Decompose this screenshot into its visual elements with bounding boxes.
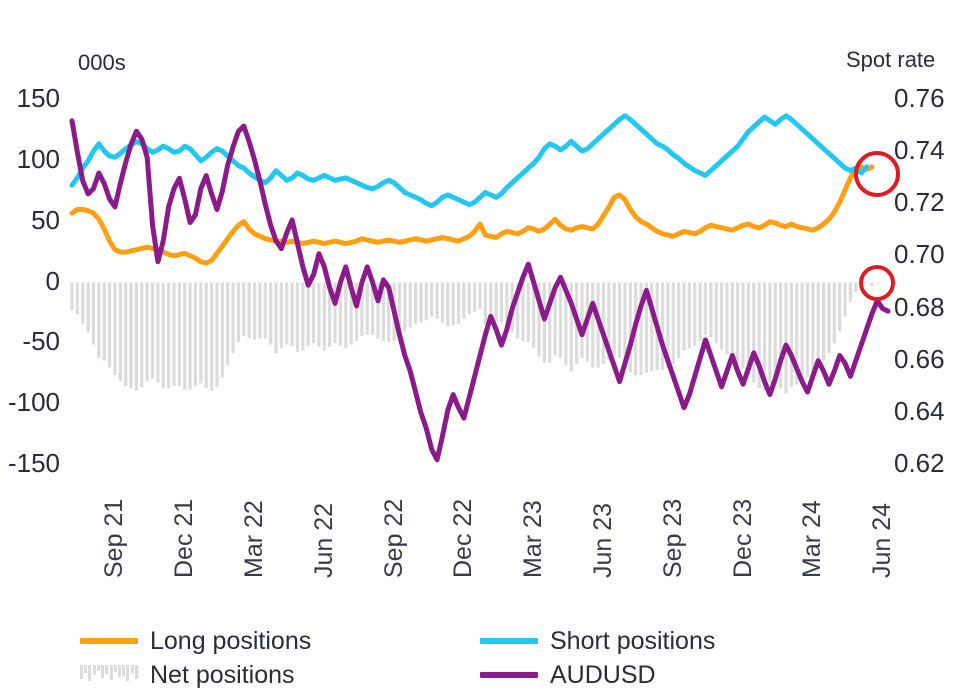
- legend-net-positions[interactable]: Net positions: [80, 661, 480, 690]
- net-position-bar: [419, 283, 422, 323]
- net-position-bar: [237, 283, 240, 343]
- net-position-bar: [92, 283, 95, 345]
- legend-short-positions[interactable]: Short positions: [480, 627, 880, 656]
- net-position-bar: [441, 283, 444, 323]
- net-position-bar: [113, 283, 116, 375]
- net-position-bar: [274, 283, 277, 354]
- net-position-bar: [226, 283, 229, 366]
- net-position-bar: [768, 283, 771, 384]
- net-position-bar: [811, 283, 814, 374]
- plot-area: [0, 0, 954, 697]
- net-position-bar: [344, 283, 347, 349]
- net-position-bar: [291, 283, 294, 346]
- net-position-bar: [613, 283, 616, 356]
- net-position-bar: [629, 283, 632, 373]
- net-position-bar: [97, 283, 100, 358]
- net-position-bar: [409, 283, 412, 328]
- net-position-bar: [854, 283, 857, 293]
- chart-container: 000s Spot rate 150100500-50-100-150 0.76…: [0, 0, 954, 697]
- net-position-bar: [865, 281, 868, 282]
- net-position-bar: [167, 283, 170, 389]
- net-position-bar: [838, 283, 841, 332]
- net-position-bar: [704, 283, 707, 335]
- net-position-bar: [725, 283, 728, 355]
- legend-item-label: Short positions: [550, 627, 715, 656]
- net-position-bar: [849, 283, 852, 302]
- net-position-bar: [731, 283, 734, 362]
- net-position-bar: [129, 283, 132, 389]
- net-position-bar: [591, 283, 594, 368]
- net-position-bar: [199, 283, 202, 384]
- net-position-bar: [178, 283, 181, 386]
- net-position-bar: [446, 283, 449, 327]
- net-position-bar: [307, 283, 310, 346]
- net-position-bar: [403, 283, 406, 332]
- net-position-bar: [688, 283, 691, 349]
- net-position-bar: [580, 283, 583, 358]
- net-position-bar: [468, 283, 471, 315]
- net-position-bar: [70, 283, 73, 311]
- legend-audusd[interactable]: AUDUSD: [480, 661, 880, 690]
- net-position-bar: [833, 283, 836, 344]
- net-position-bar: [280, 283, 283, 349]
- net-position-bar: [801, 283, 804, 382]
- net-position-bar: [221, 283, 224, 378]
- net-position-bar: [146, 283, 149, 382]
- net-position-bar: [650, 283, 653, 372]
- net-position-bar: [500, 283, 503, 323]
- net-position-bar: [323, 283, 326, 351]
- net-position-bar: [242, 283, 245, 337]
- short-positions-line: [72, 116, 867, 206]
- net-position-bar: [715, 283, 718, 344]
- net-position-bar: [258, 283, 261, 339]
- net-position-bar: [693, 283, 696, 346]
- net-position-bar: [81, 283, 84, 324]
- net-position-bar: [720, 283, 723, 350]
- net-position-bar: [741, 283, 744, 369]
- legend-item-label: Net positions: [150, 661, 295, 690]
- net-position-bar: [103, 283, 106, 361]
- net-position-bar: [231, 283, 234, 354]
- net-position-bar: [784, 283, 787, 394]
- net-position-bar: [183, 283, 186, 390]
- net-position-bar: [817, 283, 820, 369]
- net-position-bar: [119, 283, 122, 382]
- net-position-bar: [774, 283, 777, 382]
- net-position-bar: [194, 283, 197, 386]
- net-position-bar: [484, 283, 487, 326]
- net-position-bar: [495, 283, 498, 323]
- legend-line-swatch-icon: [80, 638, 138, 644]
- net-position-bar: [135, 283, 138, 391]
- net-position-bar: [661, 283, 664, 371]
- long-positions-line: [72, 167, 872, 263]
- net-position-bar: [457, 283, 460, 324]
- net-position-bar: [140, 283, 143, 388]
- net-position-bar: [602, 283, 605, 365]
- net-position-bar: [317, 283, 320, 347]
- net-position-bar: [285, 283, 288, 345]
- net-position-bar: [76, 283, 79, 315]
- net-position-bar: [672, 283, 675, 365]
- net-position-bar: [296, 283, 299, 352]
- net-position-bar: [790, 283, 793, 388]
- net-position-bar: [452, 283, 455, 326]
- net-position-bar: [87, 283, 90, 333]
- net-position-bar: [543, 283, 546, 363]
- net-position-bar: [414, 283, 417, 324]
- net-position-bar: [876, 283, 879, 284]
- net-position-bar: [521, 283, 524, 341]
- net-position-bar: [527, 283, 530, 343]
- net-position-bar: [682, 283, 685, 351]
- net-position-bar: [806, 283, 809, 378]
- legend-item-label: AUDUSD: [550, 661, 656, 690]
- net-position-bar: [253, 283, 256, 340]
- net-position-bar: [366, 283, 369, 335]
- net-position-bar: [430, 283, 433, 317]
- net-position-bar: [827, 283, 830, 354]
- net-position-bar: [435, 283, 438, 320]
- net-position-bar: [264, 283, 267, 339]
- net-position-bar: [618, 283, 621, 358]
- net-position-bar: [677, 283, 680, 358]
- chart-legend: Long positionsShort positionsNet positio…: [80, 624, 880, 692]
- net-position-bar: [709, 283, 712, 338]
- net-position-bar: [172, 283, 175, 386]
- net-position-bar: [473, 283, 476, 312]
- net-position-bar: [210, 283, 213, 391]
- net-position-bar: [108, 283, 111, 368]
- net-position-bar: [301, 283, 304, 351]
- net-position-bar: [205, 283, 208, 389]
- net-position-bar: [269, 283, 272, 345]
- legend-line-swatch-icon: [480, 672, 538, 678]
- net-position-bar: [559, 283, 562, 358]
- net-position-bar: [462, 283, 465, 320]
- net-position-bar: [162, 283, 165, 389]
- legend-line-swatch-icon: [480, 638, 538, 644]
- net-position-bar: [822, 283, 825, 361]
- net-position-bar: [478, 283, 481, 310]
- net-position-bar: [870, 283, 873, 287]
- net-position-bar: [124, 283, 127, 386]
- net-position-bar: [752, 283, 755, 383]
- legend-long-positions[interactable]: Long positions: [80, 627, 480, 656]
- net-position-bar: [736, 283, 739, 365]
- net-position-bar: [151, 283, 154, 379]
- net-position-bar: [215, 283, 218, 388]
- net-position-bar: [699, 283, 702, 341]
- legend-item-label: Long positions: [150, 627, 311, 656]
- net-position-bar: [843, 283, 846, 317]
- net-position-bar: [189, 283, 192, 390]
- net-position-bar: [312, 283, 315, 344]
- net-position-bar: [248, 283, 251, 339]
- legend-bars-swatch-icon: [80, 665, 138, 685]
- net-position-bar: [425, 283, 428, 321]
- net-position-bar: [156, 283, 159, 383]
